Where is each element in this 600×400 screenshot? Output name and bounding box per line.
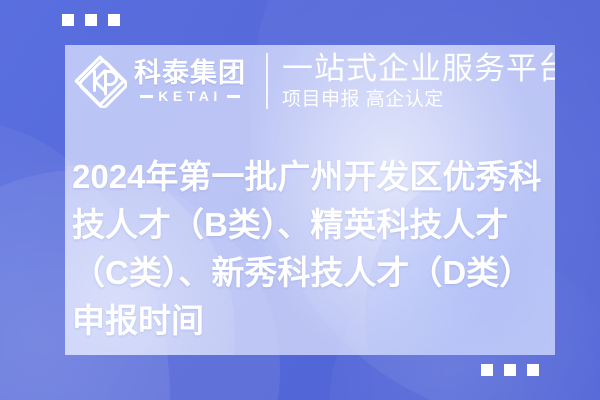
dash-icon-left — [140, 95, 153, 98]
brand-wordmark: 科泰集团 KETAI — [134, 59, 246, 103]
brand-name-en: KETAI — [158, 89, 221, 103]
dot-icon — [481, 364, 493, 376]
brand-name-en-wrap: KETAI — [134, 89, 246, 103]
dot-icon — [504, 364, 516, 376]
dash-icon-right — [227, 95, 240, 98]
dot-icon — [85, 14, 97, 26]
decorative-dots-top-left — [62, 14, 120, 26]
promo-banner: 科泰集团 KETAI 一站式企业服务平台 项目申报 高企认定 2024年第一批广… — [0, 0, 600, 400]
brand-name-cn: 科泰集团 — [134, 59, 246, 87]
brand-header: 科泰集团 KETAI 一站式企业服务平台 项目申报 高企认定 — [71, 48, 549, 114]
slogan-main: 一站式企业服务平台 — [282, 52, 555, 86]
headline-title: 2024年第一批广州开发区优秀科技人才（B类）、精英科技人才（C类）、新秀科技人… — [72, 153, 554, 345]
content-card: 科泰集团 KETAI 一站式企业服务平台 项目申报 高企认定 2024年第一批广… — [65, 45, 555, 355]
slogan-sub: 项目申报 高企认定 — [282, 89, 555, 111]
decorative-dots-bottom-right — [481, 364, 539, 376]
dot-icon — [527, 364, 539, 376]
dot-icon — [62, 14, 74, 26]
brand-logo[interactable]: 科泰集团 KETAI — [73, 54, 246, 108]
dot-icon — [108, 14, 120, 26]
ketai-diamond-kp-logo-icon — [73, 54, 127, 108]
slogan-block: 一站式企业服务平台 项目申报 高企认定 — [282, 52, 555, 111]
vertical-divider — [266, 53, 268, 109]
